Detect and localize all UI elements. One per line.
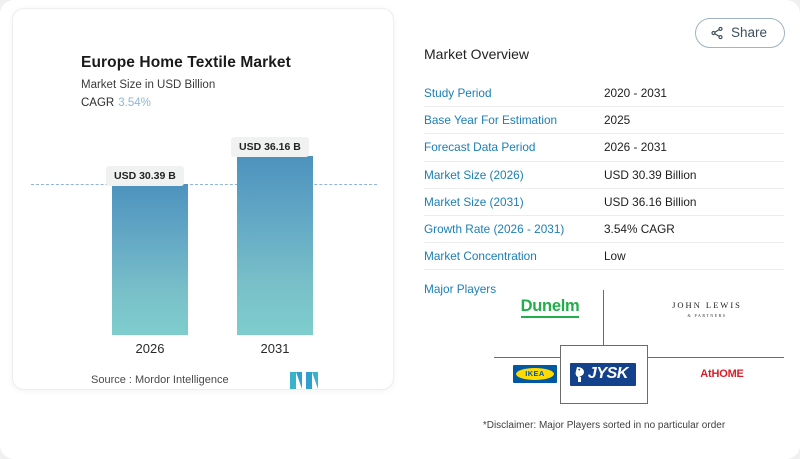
at-home-wordmark: AtHOME [700, 369, 743, 380]
bar-label-2031: USD 36.16 B [231, 137, 309, 157]
row-key: Forecast Data Period [424, 140, 604, 154]
row-key: Market Size (2026) [424, 168, 604, 182]
row-key: Market Size (2031) [424, 195, 604, 209]
dunelm-wordmark: Dunelm [521, 298, 580, 318]
report-snapshot-page: Share Europe Home Textile Market Market … [0, 0, 800, 459]
player-logo-john-lewis: JOHN LEWIS & PARTNERS [642, 294, 772, 324]
row-key: Base Year For Estimation [424, 113, 604, 127]
bar-2026[interactable] [112, 184, 188, 335]
x-tick-2031: 2031 [237, 341, 313, 356]
table-row: Growth Rate (2026 - 2031) 3.54% CAGR [424, 216, 784, 243]
row-key: Growth Rate (2026 - 2031) [424, 222, 604, 236]
row-value: USD 36.16 Billion [604, 195, 696, 209]
overview-table: Study Period 2020 - 2031 Base Year For E… [424, 80, 784, 270]
row-value: USD 30.39 Billion [604, 168, 696, 182]
market-overview-panel: Market Overview Study Period 2020 - 2031… [424, 0, 784, 459]
row-value: 3.54% CAGR [604, 222, 675, 236]
jysk-wordmark: JYSK [588, 366, 628, 382]
row-value: 2020 - 2031 [604, 86, 667, 100]
jysk-bird-icon [575, 366, 586, 383]
john-lewis-tagline: & PARTNERS [687, 313, 726, 318]
table-row: Forecast Data Period 2026 - 2031 [424, 134, 784, 161]
x-tick-2026: 2026 [112, 341, 188, 356]
players-disclaimer: *Disclaimer: Major Players sorted in no … [424, 420, 784, 431]
bar-2031[interactable] [237, 156, 313, 335]
chart-card: Europe Home Textile Market Market Size i… [12, 8, 394, 390]
major-players-diagram: Dunelm JOHN LEWIS & PARTNERS IKEA [494, 290, 784, 402]
ikea-badge: IKEA [513, 365, 557, 383]
table-row: Market Size (2026) USD 30.39 Billion [424, 162, 784, 189]
john-lewis-wordmark: JOHN LEWIS [672, 300, 742, 310]
table-row: Base Year For Estimation 2025 [424, 107, 784, 134]
player-logo-ikea: IKEA [500, 360, 570, 388]
reference-dashed-line [31, 184, 377, 185]
bar-label-2026: USD 30.39 B [106, 166, 184, 186]
ikea-oval: IKEA [516, 368, 554, 380]
ikea-wordmark: IKEA [525, 370, 545, 378]
row-key: Market Concentration [424, 249, 604, 263]
player-logo-dunelm: Dunelm [504, 290, 596, 326]
row-key: Study Period [424, 86, 604, 100]
overview-title: Market Overview [424, 46, 529, 62]
jysk-badge: JYSK [570, 363, 636, 386]
row-value: Low [604, 249, 626, 263]
table-row: Study Period 2020 - 2031 [424, 80, 784, 107]
row-value: 2026 - 2031 [604, 140, 667, 154]
major-players-label: Major Players [424, 282, 496, 296]
bar-chart-plot: USD 30.39 B 2026 USD 36.16 B 2031 [13, 9, 395, 391]
player-logo-at-home: AtHOME [672, 362, 772, 386]
connector-vertical-top [603, 290, 604, 345]
row-value: 2025 [604, 113, 630, 127]
table-row: Market Concentration Low [424, 243, 784, 270]
chart-source: Source : Mordor Intelligence [91, 374, 229, 386]
table-row: Market Size (2031) USD 36.16 Billion [424, 189, 784, 216]
mordor-intelligence-logo [290, 371, 318, 389]
player-logo-jysk: JYSK [567, 358, 639, 390]
